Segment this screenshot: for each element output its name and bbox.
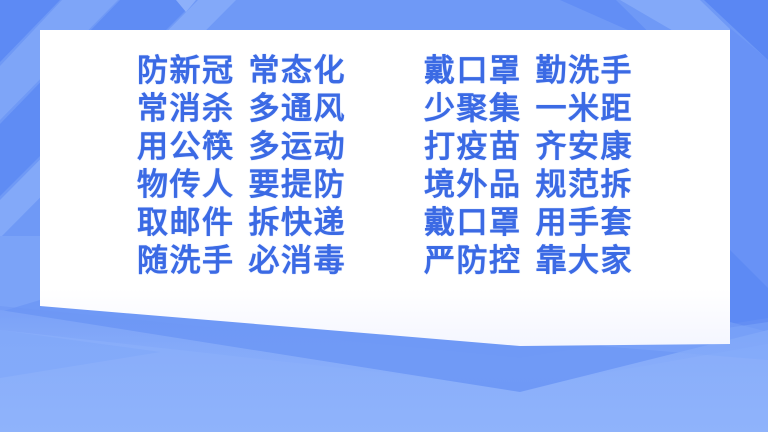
slogan-phrase: 齐安康 xyxy=(536,128,634,166)
slogan-phrase: 物传人 xyxy=(137,166,235,204)
slogan-phrase: 靠大家 xyxy=(536,242,634,280)
slogan-phrase: 规范拆 xyxy=(536,166,634,204)
slogan-row: 取邮件 拆快递 xyxy=(137,204,346,242)
slogan-phrase: 用手套 xyxy=(536,204,634,242)
slogan-phrase: 勤洗手 xyxy=(536,52,634,90)
slogan-phrase: 拆快递 xyxy=(249,204,347,242)
slogan-row: 常消杀 多通风 xyxy=(137,90,346,128)
slogan-row: 随洗手 必消毒 xyxy=(137,242,346,280)
slogan-row: 严防控 靠大家 xyxy=(424,242,633,280)
slogan-phrase: 常消杀 xyxy=(137,90,235,128)
slogan-phrase: 少聚集 xyxy=(424,90,522,128)
slogan-row: 防新冠 常态化 xyxy=(137,52,346,90)
slogan-block: 防新冠 常态化 常消杀 多通风 用公筷 多运动 物传人 要提防 取邮件 拆快 xyxy=(40,30,730,306)
slogan-phrase: 境外品 xyxy=(424,166,522,204)
slogan-column-left: 防新冠 常态化 常消杀 多通风 用公筷 多运动 物传人 要提防 取邮件 拆快 xyxy=(137,52,346,280)
slogan-row: 境外品 规范拆 xyxy=(424,166,633,204)
poster-canvas: 防新冠 常态化 常消杀 多通风 用公筷 多运动 物传人 要提防 取邮件 拆快 xyxy=(0,0,768,432)
slogan-phrase: 随洗手 xyxy=(137,242,235,280)
slogan-phrase: 严防控 xyxy=(424,242,522,280)
slogan-phrase: 多运动 xyxy=(249,128,347,166)
slogan-phrase: 取邮件 xyxy=(137,204,235,242)
slogan-phrase: 戴口罩 xyxy=(424,52,522,90)
slogan-phrase: 必消毒 xyxy=(249,242,347,280)
slogan-row: 戴口罩 用手套 xyxy=(424,204,633,242)
slogan-phrase: 一米距 xyxy=(536,90,634,128)
slogan-row: 戴口罩 勤洗手 xyxy=(424,52,633,90)
slogan-phrase: 戴口罩 xyxy=(424,204,522,242)
slogan-column-right: 戴口罩 勤洗手 少聚集 一米距 打疫苗 齐安康 境外品 规范拆 戴口罩 用手 xyxy=(424,52,633,280)
slogan-grid: 防新冠 常态化 常消杀 多通风 用公筷 多运动 物传人 要提防 取邮件 拆快 xyxy=(137,52,633,280)
slogan-phrase: 防新冠 xyxy=(137,52,235,90)
slab-left xyxy=(0,236,40,312)
slogan-phrase: 用公筷 xyxy=(137,128,235,166)
slogan-phrase: 常态化 xyxy=(249,52,347,90)
slogan-row: 少聚集 一米距 xyxy=(424,90,633,128)
slogan-row: 物传人 要提防 xyxy=(137,166,346,204)
slogan-phrase: 多通风 xyxy=(249,90,347,128)
slogan-row: 打疫苗 齐安康 xyxy=(424,128,633,166)
slogan-row: 用公筷 多运动 xyxy=(137,128,346,166)
slogan-phrase: 要提防 xyxy=(249,166,347,204)
slogan-phrase: 打疫苗 xyxy=(424,128,522,166)
